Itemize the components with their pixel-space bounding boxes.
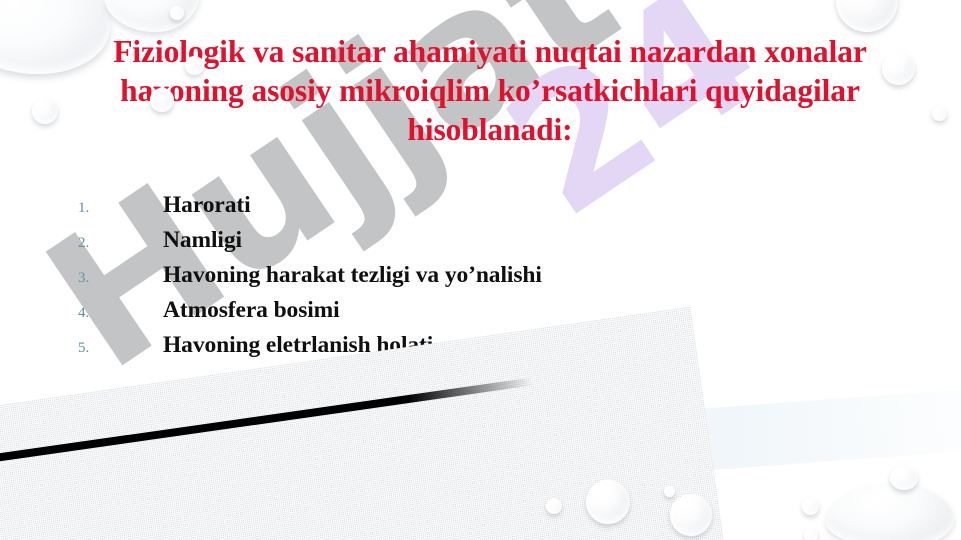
footnote-microtext: Bu mavzuni o’rganish natijasida, siz xon… [96, 434, 811, 442]
water-droplet-topleft-secondary [104, 0, 200, 32]
water-droplet [882, 52, 915, 85]
list-item-number: 3. [78, 267, 163, 287]
water-droplet [802, 498, 819, 515]
slide-title: Fiziologik va sanitar ahamiyati nuqtai n… [96, 32, 884, 149]
water-droplet [804, 528, 818, 540]
list-item-number: 1. [78, 197, 163, 217]
list-item: 2. Namligi [78, 227, 858, 262]
list-item: 1. Harorati [78, 192, 858, 227]
diagonal-band-black [0, 377, 533, 484]
water-droplet [586, 480, 630, 524]
water-droplet-large-topleft [0, 0, 110, 74]
presentation-slide: Hujjat 24 Fiziologik va sanitar ahamiyat… [0, 0, 961, 540]
list-item-label: Havoning harakat tezligi va yo’nalishi [163, 262, 542, 289]
water-droplet-large-bottomright [826, 484, 954, 540]
list-item-label: Harorati [163, 192, 251, 219]
water-droplet [546, 498, 562, 514]
list-item: 3. Havoning harakat tezligi va yo’nalish… [78, 262, 858, 297]
list-item-label: Havoning eletrlanish holati. [163, 332, 439, 359]
list-item-number: 4. [78, 302, 163, 322]
list-item-number: 5. [78, 337, 163, 357]
numbered-list: 1. Harorati 2. Namligi 3. Havoning harak… [78, 192, 858, 367]
water-droplet [664, 486, 675, 497]
list-item: 4. Atmosfera bosimi [78, 297, 858, 332]
water-droplet [836, 0, 898, 32]
list-item-number: 2. [78, 232, 163, 252]
diagonal-band-blue [0, 386, 961, 534]
list-item-label: Atmosfera bosimi [163, 297, 340, 324]
water-droplet [932, 106, 947, 121]
water-droplet [670, 494, 712, 536]
list-item: 5. Havoning eletrlanish holati. [78, 332, 858, 367]
list-item-label: Namligi [163, 227, 242, 254]
water-droplet [32, 98, 58, 124]
